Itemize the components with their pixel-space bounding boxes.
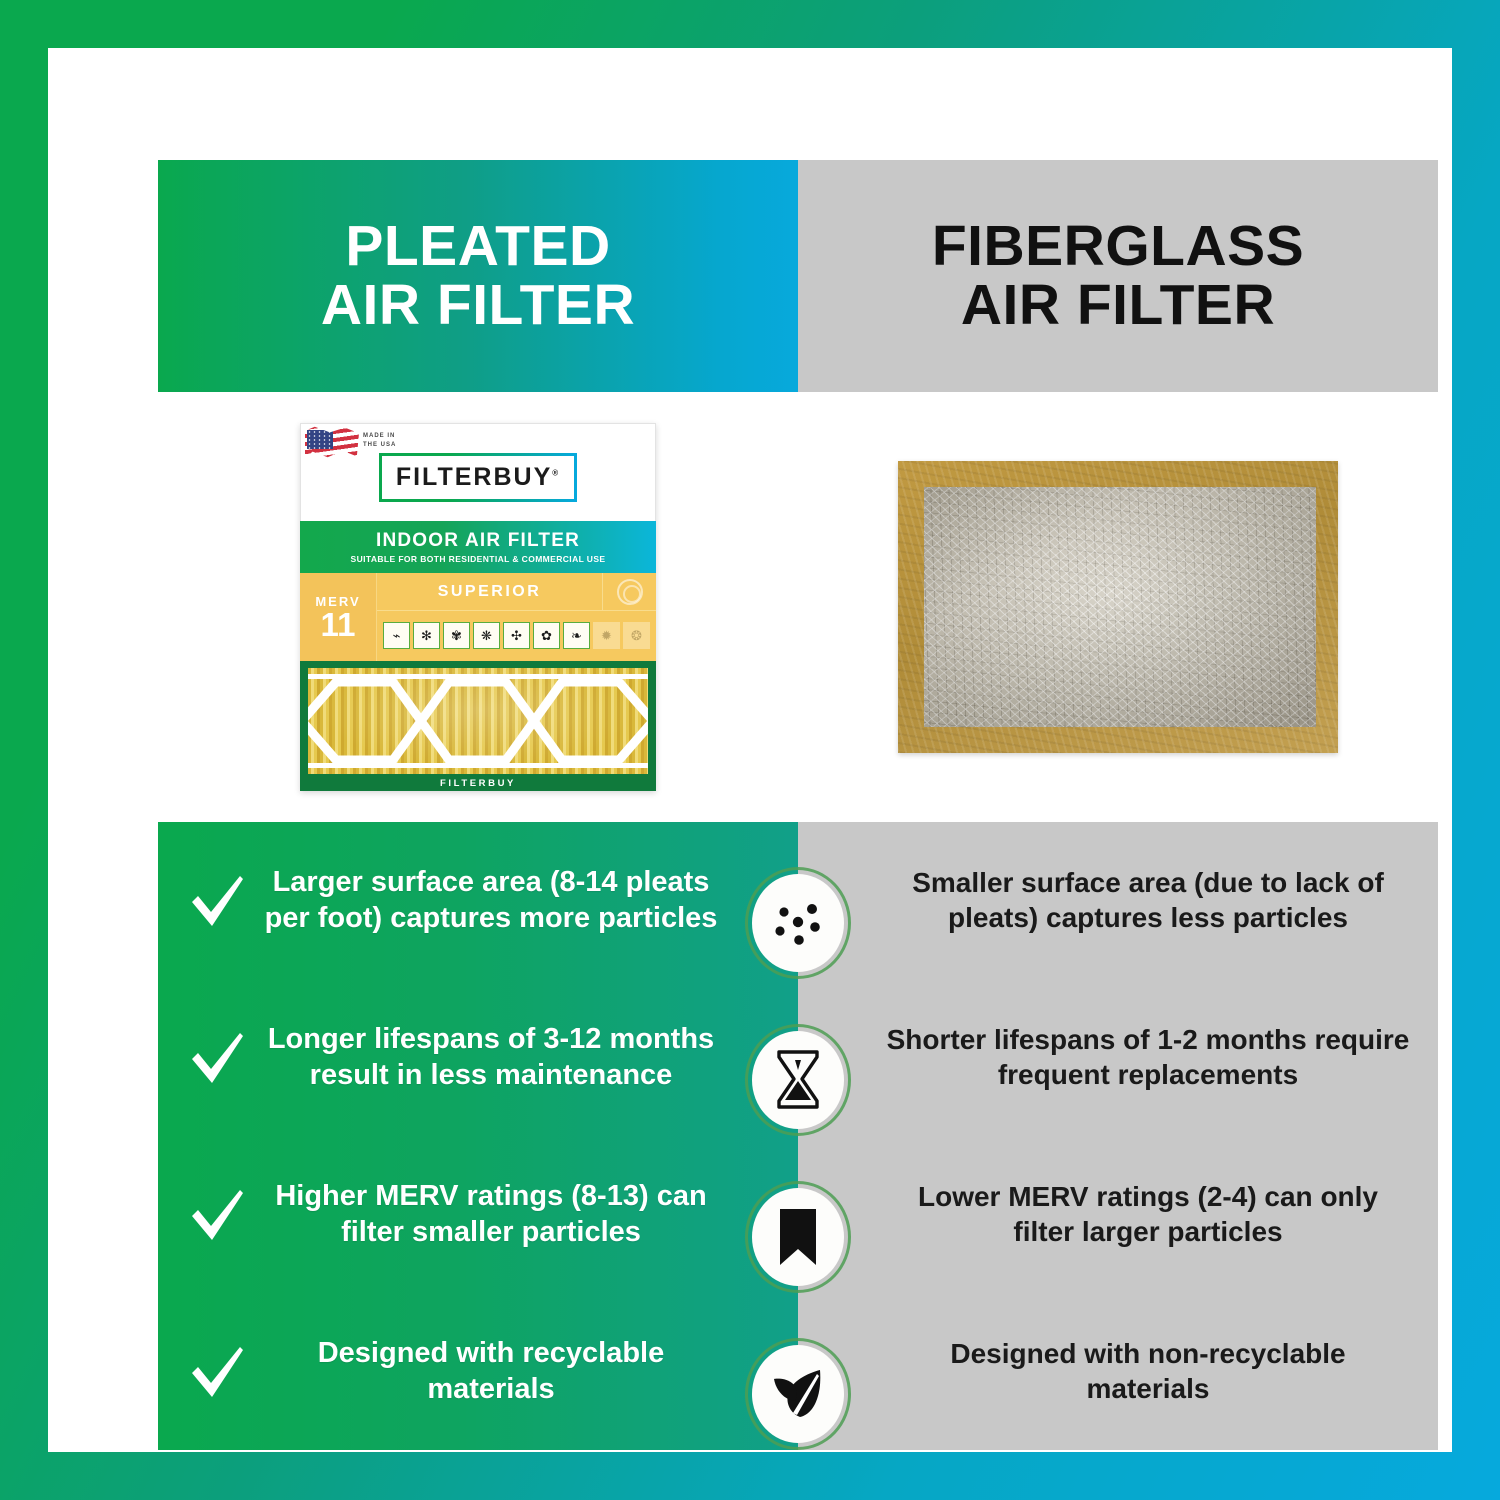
row-3-fiberglass-text: Lower MERV ratings (2-4) can only filter… <box>886 1180 1410 1248</box>
fiberglass-mesh-media <box>924 487 1316 727</box>
merv-value: 11 <box>321 609 356 640</box>
usa-flag-icon <box>305 426 359 466</box>
capability-tile-row: ⌁ ✻ ✾ ❋ ✣ ✿ ❧ ✹ ❂ <box>377 611 656 661</box>
header-pleated-line2: AIR FILTER <box>321 276 635 335</box>
row-1-fiberglass-text: Smaller surface area (due to lack of ple… <box>886 866 1410 934</box>
header-band: PLEATED AIR FILTER FIBERGLASS AIR FILTER <box>158 160 1438 392</box>
package-merv-band: MERV 11 SUPERIOR <box>300 573 656 661</box>
smoke-icon: ❧ <box>563 622 590 649</box>
header-pleated-line1: PLEATED <box>321 217 635 276</box>
pollen-icon: ✾ <box>443 622 470 649</box>
product-image-band: MADE IN THE USA FILTERBUY® INDOOR AIR FI… <box>158 392 1438 822</box>
white-canvas: PLEATED AIR FILTER FIBERGLASS AIR FILTER <box>48 48 1452 1452</box>
fiberglass-product-cell <box>798 392 1438 822</box>
package-top-panel: MADE IN THE USA FILTERBUY® <box>300 423 656 521</box>
made-in-line1: MADE IN <box>363 432 396 441</box>
filterbuy-logo: FILTERBUY® <box>379 453 577 502</box>
mold-spore-icon: ❋ <box>473 622 500 649</box>
bacteria-icon: ✣ <box>503 622 530 649</box>
row-2-fiberglass-text: Shorter lifespans of 1-2 months require … <box>886 1023 1410 1091</box>
diamond-wire-mesh-icon <box>308 668 648 774</box>
header-fiberglass-line2: AIR FILTER <box>932 276 1304 335</box>
package-indoor-band: INDOOR AIR FILTER SUITABLE FOR BOTH RESI… <box>300 521 656 573</box>
row-4-pleated-text: Designed with recyclable materials <box>254 1336 728 1407</box>
header-fiberglass-line1: FIBERGLASS <box>932 217 1304 276</box>
row-2-pleated-text: Longer lifespans of 3-12 months result i… <box>254 1022 728 1093</box>
virus-icon: ✹ <box>593 622 620 649</box>
odor-icon: ❂ <box>623 622 650 649</box>
certification-seal-icon <box>602 573 656 610</box>
outer-gradient-frame: PLEATED AIR FILTER FIBERGLASS AIR FILTER <box>0 0 1500 1500</box>
tier-label: SUPERIOR <box>377 583 602 601</box>
checkmark-icon <box>186 1184 248 1246</box>
pleated-filter-media: FILTERBUY <box>300 661 656 791</box>
dust-mite-icon: ✻ <box>413 622 440 649</box>
row-3-pleated-text: Higher MERV ratings (8-13) can filter sm… <box>254 1179 728 1250</box>
header-fiberglass: FIBERGLASS AIR FILTER <box>798 160 1438 392</box>
pleated-product-cell: MADE IN THE USA FILTERBUY® INDOOR AIR FI… <box>158 392 798 822</box>
particles-dots-icon <box>745 867 851 979</box>
checkmark-icon <box>186 870 248 932</box>
header-pleated: PLEATED AIR FILTER <box>158 160 798 392</box>
pet-dander-icon: ✿ <box>533 622 560 649</box>
merv-badge: MERV 11 <box>300 573 377 661</box>
indoor-air-filter-subtitle: SUITABLE FOR BOTH RESIDENTIAL & COMMERCI… <box>300 554 656 564</box>
leaf-sprout-icon <box>745 1338 851 1450</box>
filter-frame-brand: FILTERBUY <box>300 778 656 789</box>
flag-canton <box>307 430 333 449</box>
made-in-line2: THE USA <box>363 441 396 450</box>
fiberglass-filter-image <box>898 461 1338 753</box>
checkmark-icon <box>186 1027 248 1089</box>
bookmark-ribbon-icon <box>745 1181 851 1293</box>
comparison-body: Larger surface area (8-14 pleats per foo… <box>158 822 1438 1450</box>
vacuum-dust-icon: ⌁ <box>383 622 410 649</box>
trademark-mark: ® <box>552 469 560 478</box>
filterbuy-package-image: MADE IN THE USA FILTERBUY® INDOOR AIR FI… <box>300 423 656 791</box>
checkmark-icon <box>186 1341 248 1403</box>
row-4-fiberglass-text: Designed with non-recyclable materials <box>886 1337 1410 1405</box>
row-1-pleated-text: Larger surface area (8-14 pleats per foo… <box>254 865 728 936</box>
hourglass-icon <box>745 1024 851 1136</box>
filterbuy-logo-text: FILTERBUY <box>396 463 552 491</box>
indoor-air-filter-title: INDOOR AIR FILTER <box>300 530 656 552</box>
comparison-card: PLEATED AIR FILTER FIBERGLASS AIR FILTER <box>158 160 1438 1450</box>
made-in-usa-text: MADE IN THE USA <box>363 432 396 450</box>
gold-pleats <box>308 668 648 774</box>
